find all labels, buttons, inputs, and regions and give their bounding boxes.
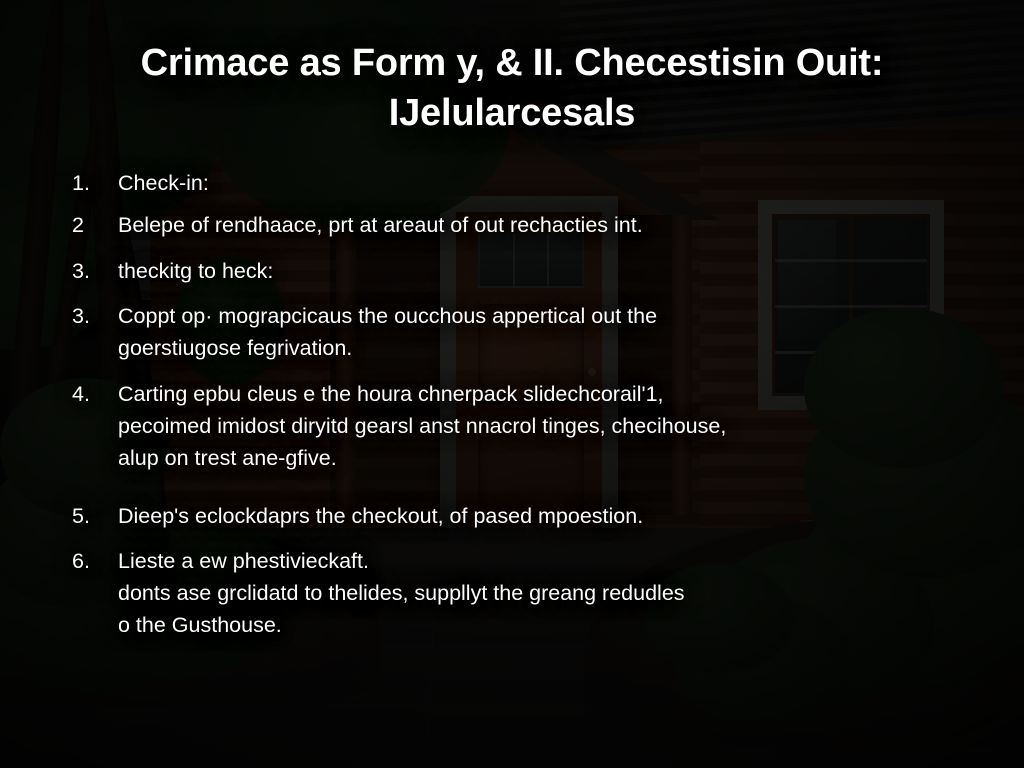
list-item-text: Check-in:: [118, 168, 960, 200]
list-item-marker: 6.: [70, 546, 118, 578]
list-item-line: donts ase grclidatd to thelides, supplly…: [118, 578, 960, 610]
list-item-line: Carting epbu cleus e the houra chnerpack…: [118, 379, 960, 411]
list-item-text: Coppt op· mograpcicaus the oucchous appe…: [118, 301, 960, 365]
list-item-marker: 1.: [70, 168, 118, 200]
presentation-slide: Crimace as Form y, & II. Checestisin Oui…: [0, 0, 1024, 768]
list-item: 4.Carting epbu cleus e the houra chnerpa…: [70, 379, 960, 474]
list-item-marker: 3.: [70, 256, 118, 288]
slide-title: Crimace as Form y, & II. Checestisin Oui…: [52, 38, 972, 138]
list-item-line: theckitg to heck:: [118, 256, 960, 288]
slide-title-line-2: IJelularcesals: [52, 88, 972, 138]
numbered-list: 1.Check-in:2Belepe of rendhaace, prt at …: [70, 168, 960, 656]
list-item: 3.Coppt op· mograpcicaus the oucchous ap…: [70, 301, 960, 365]
list-item: 2Belepe of rendhaace, prt at areaut of o…: [70, 210, 960, 242]
list-item-line: Coppt op· mograpcicaus the oucchous appe…: [118, 301, 960, 333]
list-item-marker: 2: [70, 210, 118, 242]
list-item-line: goerstiugose fegrivation.: [118, 333, 960, 365]
list-item: 3.theckitg to heck:: [70, 256, 960, 288]
slide-title-line-1: Crimace as Form y, & II. Checestisin Oui…: [52, 38, 972, 88]
list-item-line: Lieste a ew phestivieckaft.: [118, 546, 960, 578]
list-item-text: Dieep's eclockdaprs the checkout, of pas…: [118, 501, 960, 533]
list-item-line: Dieep's eclockdaprs the checkout, of pas…: [118, 501, 960, 533]
list-item-text: Lieste a ew phestivieckaft.donts ase grc…: [118, 546, 960, 641]
list-item-marker: 5.: [70, 501, 118, 533]
list-item-line: alup on trest ane-gfive.: [118, 443, 960, 475]
list-item: 1.Check-in:: [70, 168, 960, 200]
slide-content: Crimace as Form y, & II. Checestisin Oui…: [0, 0, 1024, 768]
list-item-line: pecoimed imidost diryitd gearsl anst nna…: [118, 411, 960, 443]
list-item-line: Belepe of rendhaace, prt at areaut of ou…: [118, 210, 960, 242]
list-item-line: o the Gusthouse.: [118, 610, 960, 642]
list-item-text: theckitg to heck:: [118, 256, 960, 288]
list-item-line: Check-in:: [118, 168, 960, 200]
list-item-marker: 4.: [70, 379, 118, 411]
list-item-text: Belepe of rendhaace, prt at areaut of ou…: [118, 210, 960, 242]
list-item: 6.Lieste a ew phestivieckaft.donts ase g…: [70, 546, 960, 641]
list-item: 5.Dieep's eclockdaprs the checkout, of p…: [70, 501, 960, 533]
list-item-text: Carting epbu cleus e the houra chnerpack…: [118, 379, 960, 474]
list-item-marker: 3.: [70, 301, 118, 333]
